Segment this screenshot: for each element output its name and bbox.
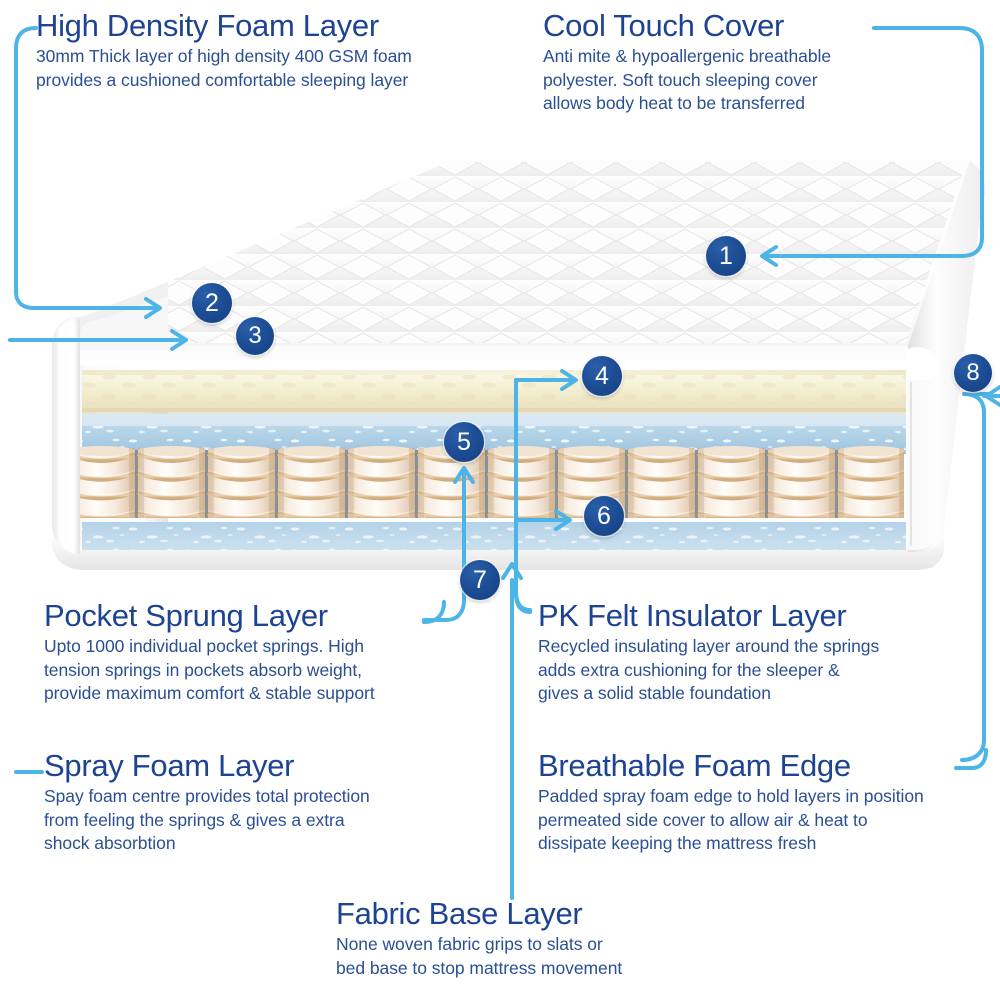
callout-body: None woven fabric grips to slats or bed … bbox=[336, 933, 622, 980]
callout-body: Padded spray foam edge to hold layers in… bbox=[538, 785, 924, 855]
badge-5-pocket-sprung[interactable]: 5 bbox=[444, 422, 484, 462]
callout-body-line: Padded spray foam edge to hold layers in… bbox=[538, 785, 924, 808]
pocket-spring bbox=[205, 446, 275, 526]
pocket-spring bbox=[625, 446, 695, 526]
callout-body-line: polyester. Soft touch sleeping cover bbox=[543, 69, 831, 92]
arrowhead-edge bbox=[986, 387, 1000, 405]
callout-breathable-foam-edge: Breathable Foam Edge Padded spray foam e… bbox=[538, 750, 924, 855]
callout-body-line: Recycled insulating layer around the spr… bbox=[538, 635, 879, 658]
callout-body-line: Spay foam centre provides total protecti… bbox=[44, 785, 370, 808]
wire-pocket-sprung-hook bbox=[424, 602, 444, 622]
callout-body: Upto 1000 individual pocket springs. Hig… bbox=[44, 635, 375, 705]
callout-body-line: from feeling the springs & gives a extra bbox=[44, 809, 370, 832]
diagram-canvas: 1 2 3 4 5 6 7 8 High Density Foam Layer … bbox=[0, 0, 1000, 1000]
callout-body: Spay foam centre provides total protecti… bbox=[44, 785, 370, 855]
badge-4-pk-felt-insulator[interactable]: 4 bbox=[582, 356, 622, 396]
mattress-illustration bbox=[18, 150, 988, 570]
wire-pk-felt-hook bbox=[516, 592, 530, 610]
callout-body: Recycled insulating layer around the spr… bbox=[538, 635, 879, 705]
callout-body-line: 30mm Thick layer of high density 400 GSM… bbox=[36, 45, 412, 68]
callout-fabric-base-layer: Fabric Base Layer None woven fabric grip… bbox=[336, 898, 622, 980]
badge-1-cool-touch-cover[interactable]: 1 bbox=[706, 236, 746, 276]
callout-body-line: bed base to stop mattress movement bbox=[336, 957, 622, 980]
callout-body-line: provide maximum comfort & stable support bbox=[44, 682, 375, 705]
callout-pocket-sprung-layer: Pocket Sprung Layer Upto 1000 individual… bbox=[44, 600, 375, 705]
callout-pk-felt-insulator-layer: PK Felt Insulator Layer Recycled insulat… bbox=[538, 600, 879, 705]
callout-title: Breathable Foam Edge bbox=[538, 750, 924, 782]
callout-high-density-foam-layer: High Density Foam Layer 30mm Thick layer… bbox=[36, 10, 412, 92]
callout-title: High Density Foam Layer bbox=[36, 10, 412, 42]
callout-body-line: Upto 1000 individual pocket springs. Hig… bbox=[44, 635, 375, 658]
callout-title: Cool Touch Cover bbox=[543, 10, 831, 42]
pocket-spring bbox=[135, 446, 205, 526]
pocket-spring bbox=[835, 446, 905, 526]
callout-body-line: dissipate keeping the mattress fresh bbox=[538, 832, 924, 855]
callout-body-line: adds extra cushioning for the sleeper & bbox=[538, 659, 879, 682]
callout-body: 30mm Thick layer of high density 400 GSM… bbox=[36, 45, 412, 92]
wire-breathable-foam-edge-title bbox=[956, 750, 986, 768]
badge-7-fabric-base[interactable]: 7 bbox=[460, 560, 500, 600]
callout-body-line: permeated side cover to allow air & heat… bbox=[538, 809, 924, 832]
callout-body-line: None woven fabric grips to slats or bbox=[336, 933, 622, 956]
pocket-spring bbox=[275, 446, 345, 526]
callout-title: Pocket Sprung Layer bbox=[44, 600, 375, 632]
pocket-spring bbox=[765, 446, 835, 526]
callout-body-line: Anti mite & hypoallergenic breathable bbox=[543, 45, 831, 68]
callout-body-line: shock absorbtion bbox=[44, 832, 370, 855]
callout-title: PK Felt Insulator Layer bbox=[538, 600, 879, 632]
callout-title: Spray Foam Layer bbox=[44, 750, 370, 782]
pocket-spring bbox=[695, 446, 765, 526]
callout-body: Anti mite & hypoallergenic breathable po… bbox=[543, 45, 831, 115]
pocket-spring bbox=[345, 446, 415, 526]
badge-3-pk-felt-top[interactable]: 3 bbox=[236, 317, 274, 355]
badge-6-pk-felt-bottom[interactable]: 6 bbox=[584, 496, 624, 536]
callout-body-line: gives a solid stable foundation bbox=[538, 682, 879, 705]
callout-spray-foam-layer: Spray Foam Layer Spay foam centre provid… bbox=[44, 750, 370, 855]
pocket-spring bbox=[485, 446, 555, 526]
callout-cool-touch-cover: Cool Touch Cover Anti mite & hypoallerge… bbox=[543, 10, 831, 115]
badge-2-high-density-foam[interactable]: 2 bbox=[192, 283, 232, 323]
callout-title: Fabric Base Layer bbox=[336, 898, 622, 930]
badge-8-breathable-foam-edge[interactable]: 8 bbox=[954, 354, 992, 392]
pocket-springs-row bbox=[65, 446, 975, 526]
callout-body-line: allows body heat to be transferred bbox=[543, 92, 831, 115]
callout-body-line: tension springs in pockets absorb weight… bbox=[44, 659, 375, 682]
callout-body-line: provides a cushioned comfortable sleepin… bbox=[36, 69, 412, 92]
